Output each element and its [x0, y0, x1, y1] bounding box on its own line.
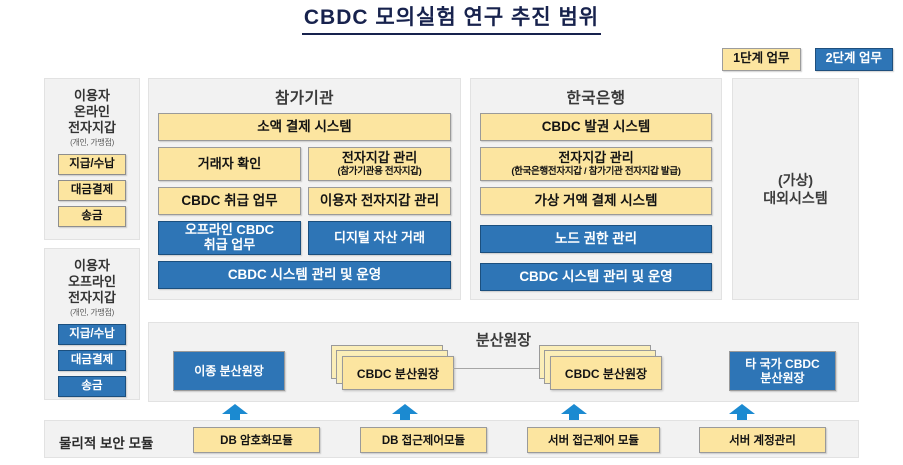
participants-row-1: 소액 결제 시스템: [158, 113, 451, 141]
ledger-other-country-line1: 타 국가 CBDC: [745, 357, 819, 371]
box-offline-cbdc-handling: 오프라인 CBDC 취급 업무: [158, 221, 301, 255]
offline-wallet-title-line3: 전자지갑: [45, 290, 139, 306]
ledger-stack-right: CBDC 분산원장: [539, 345, 671, 393]
box-bok-wallet-management-sub: (한국은행전자지갑 / 참가기관 전자지갑 발급): [511, 167, 680, 178]
bok-row-5: CBDC 시스템 관리 및 운영: [480, 263, 712, 291]
box-retail-payment-system: 소액 결제 시스템: [158, 113, 451, 141]
offline-wallet-title-line1: 이용자: [45, 258, 139, 274]
security-module-db-access-control: DB 접근제어모듈: [360, 427, 487, 453]
online-wallet-items: 지급/수납 대금결제 송금: [45, 154, 139, 227]
box-user-wallet-management: 이용자 전자지갑 관리: [308, 187, 451, 215]
panel-distributed-ledger: 분산원장 이종 분산원장 CBDC 분산원장 CBDC 분산원장 타 국가 CB…: [148, 322, 859, 402]
participants-row-2: 거래자 확인 전자지갑 관리 (참가기관용 전자지갑): [158, 147, 451, 181]
offline-wallet-items: 지급/수납 대금결제 송금: [45, 324, 139, 397]
box-virtual-large-value-settlement: 가상 거액 결제 시스템: [480, 187, 712, 215]
security-module-server-account-management: 서버 계정관리: [699, 427, 826, 453]
security-strip-label: 물리적 보안 모듈: [59, 432, 153, 452]
ledger-stack-left: CBDC 분산원장: [331, 345, 463, 393]
security-module-server-access-control: 서버 접근제어 모듈: [527, 427, 660, 453]
box-bok-wallet-management: 전자지갑 관리 (한국은행전자지갑 / 참가기관 전자지갑 발급): [480, 147, 712, 181]
panel-bank-of-korea: 한국은행 CBDC 발권 시스템 전자지갑 관리 (한국은행전자지갑 / 참가기…: [470, 78, 722, 300]
box-participants-system-ops: CBDC 시스템 관리 및 운영: [158, 261, 451, 289]
bok-row-1: CBDC 발권 시스템: [480, 113, 712, 141]
arrow-up-icon-3: [561, 404, 587, 420]
offline-wallet-subtitle: (개인, 가맹점): [45, 307, 139, 318]
box-cbdc-issuance-system: CBDC 발권 시스템: [480, 113, 712, 141]
bok-row-4: 노드 권한 관리: [480, 225, 712, 253]
ledger-connector-line: [453, 368, 543, 369]
participants-row-5: CBDC 시스템 관리 및 운영: [158, 261, 451, 289]
box-digital-asset-trading: 디지털 자산 거래: [308, 221, 451, 255]
box-bok-wallet-management-title: 전자지갑 관리: [558, 151, 633, 166]
box-node-permission-management: 노드 권한 관리: [480, 225, 712, 253]
online-wallet-title: 이용자 온라인 전자지갑: [45, 79, 139, 136]
arrow-up-icon-1: [222, 404, 248, 420]
panel-physical-security-modules: 물리적 보안 모듈 DB 암호화모듈 DB 접근제어모듈 서버 접근제어 모듈 …: [44, 420, 859, 458]
box-wallet-management-participant-sub: (참가기관용 전자지갑): [337, 167, 421, 178]
ledger-card-front-left: CBDC 분산원장: [342, 356, 454, 390]
ledger-node-heterogeneous: 이종 분산원장: [173, 351, 285, 391]
security-module-db-encryption: DB 암호화모듈: [193, 427, 320, 453]
panel-participating-institutions: 참가기관 소액 결제 시스템 거래자 확인 전자지갑 관리 (참가기관용 전자지…: [148, 78, 461, 300]
online-wallet-title-line1: 이용자: [45, 88, 139, 104]
ledger-node-other-country: 타 국가 CBDC 분산원장: [729, 351, 836, 391]
box-offline-cbdc-handling-line2: 취급 업무: [204, 238, 255, 253]
panel-user-online-wallet: 이용자 온라인 전자지갑 (개인, 가맹점) 지급/수납 대금결제 송금: [44, 78, 140, 240]
external-system-line2: 대외시스템: [733, 189, 858, 207]
page-title: CBDC 모의실험 연구 추진 범위: [302, 6, 601, 35]
online-wallet-title-line2: 온라인: [45, 104, 139, 120]
online-wallet-subtitle: (개인, 가맹점): [45, 137, 139, 148]
offline-wallet-item-payment: 지급/수납: [58, 324, 126, 345]
panel-external-system: (가상) 대외시스템: [732, 78, 859, 300]
legend-phase2: 2단계 업무: [815, 48, 893, 71]
legend: 1단계 업무 2단계 업무: [722, 48, 893, 71]
box-cbdc-handling: CBDC 취급 업무: [158, 187, 301, 215]
diagram-canvas: CBDC 모의실험 연구 추진 범위 1단계 업무 2단계 업무 이용자 온라인…: [0, 0, 903, 465]
box-bok-system-ops: CBDC 시스템 관리 및 운영: [480, 263, 712, 291]
box-wallet-management-participant: 전자지갑 관리 (참가기관용 전자지갑): [308, 147, 451, 181]
participants-heading: 참가기관: [158, 86, 451, 108]
arrow-up-icon-2: [392, 404, 418, 420]
participants-row-3: CBDC 취급 업무 이용자 전자지갑 관리: [158, 187, 451, 215]
ledger-other-country-line2: 분산원장: [745, 371, 819, 385]
offline-wallet-item-transfer: 송금: [58, 376, 126, 397]
online-wallet-item-payment: 지급/수납: [58, 154, 126, 175]
bok-row-2: 전자지갑 관리 (한국은행전자지갑 / 참가기관 전자지갑 발급): [480, 147, 712, 181]
participants-row-4: 오프라인 CBDC 취급 업무 디지털 자산 거래: [158, 221, 451, 255]
bok-row-3: 가상 거액 결제 시스템: [480, 187, 712, 215]
page-title-wrap: CBDC 모의실험 연구 추진 범위: [0, 6, 903, 35]
box-trader-verification: 거래자 확인: [158, 147, 301, 181]
box-offline-cbdc-handling-line1: 오프라인 CBDC: [185, 223, 274, 238]
legend-phase1: 1단계 업무: [722, 48, 800, 71]
bok-inner: 한국은행 CBDC 발권 시스템 전자지갑 관리 (한국은행전자지갑 / 참가기…: [471, 79, 721, 300]
ledger-heading: 분산원장: [149, 329, 858, 350]
offline-wallet-title-line2: 오프라인: [45, 274, 139, 290]
online-wallet-item-transfer: 송금: [58, 206, 126, 227]
participants-inner: 참가기관 소액 결제 시스템 거래자 확인 전자지갑 관리 (참가기관용 전자지…: [149, 79, 460, 298]
panel-user-offline-wallet: 이용자 오프라인 전자지갑 (개인, 가맹점) 지급/수납 대금결제 송금: [44, 248, 140, 400]
arrow-up-icon-4: [729, 404, 755, 420]
box-wallet-management-participant-title: 전자지갑 관리: [342, 151, 417, 166]
online-wallet-title-line3: 전자지갑: [45, 120, 139, 136]
offline-wallet-item-settlement: 대금결제: [58, 350, 126, 371]
offline-wallet-title: 이용자 오프라인 전자지갑: [45, 249, 139, 306]
external-system-line1: (가상): [733, 171, 858, 189]
bok-heading: 한국은행: [480, 86, 712, 108]
ledger-card-front-right: CBDC 분산원장: [550, 356, 662, 390]
external-system-label: (가상) 대외시스템: [733, 171, 858, 207]
online-wallet-item-settlement: 대금결제: [58, 180, 126, 201]
